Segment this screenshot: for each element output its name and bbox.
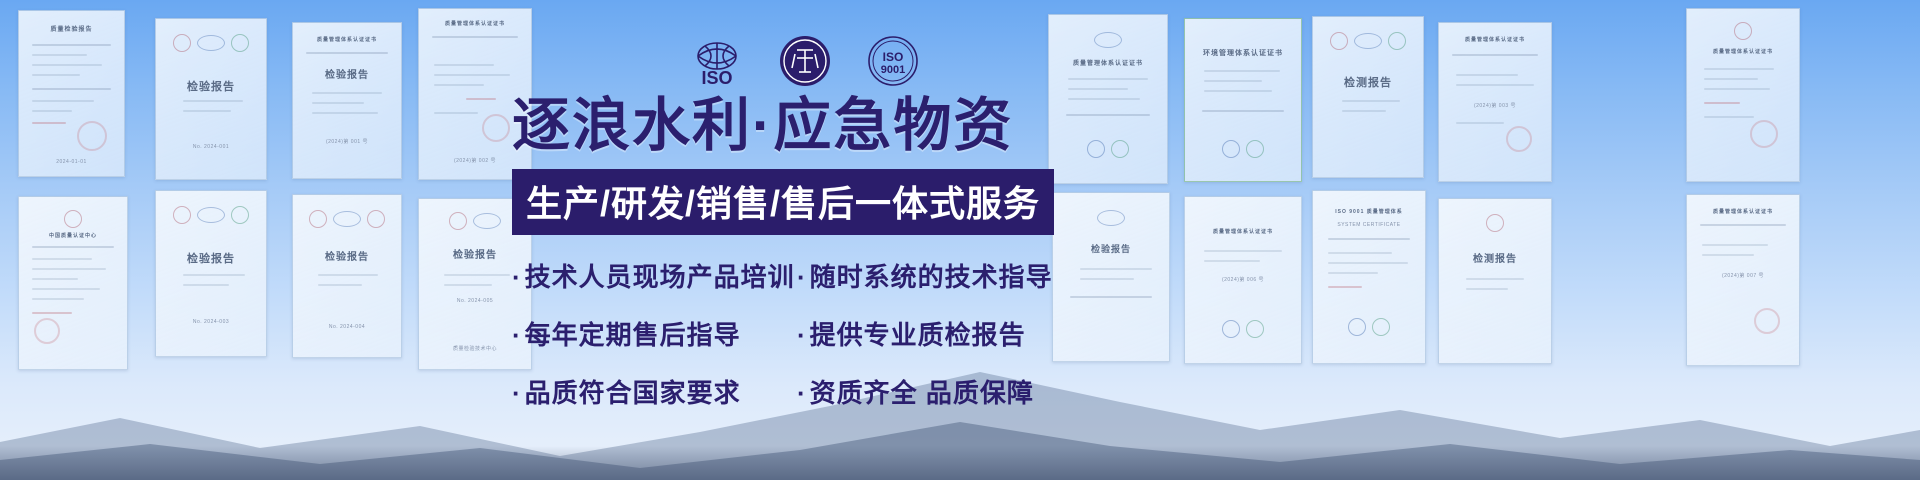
- certification-badges: ISO ISO: [690, 34, 920, 88]
- certificate-thumbnail: 检测报告: [1312, 16, 1424, 178]
- feature-item: ·品质符合国家要求: [512, 373, 797, 410]
- iso-9001-badge: ISO 9001: [866, 34, 920, 88]
- bullet-icon: ·: [797, 320, 807, 350]
- banner-content: 逐浪水利·应急物资 生产/研发/销售/售后一体式服务 ·技术人员现场产品培训 ·…: [512, 96, 1072, 410]
- feature-label: 每年定期售后指导: [525, 320, 741, 350]
- iso-badge: ISO: [690, 34, 744, 88]
- svg-text:9001: 9001: [881, 64, 905, 76]
- svg-text:ISO: ISO: [701, 68, 732, 88]
- bullet-icon: ·: [512, 378, 522, 408]
- certificate-thumbnail: 环境管理体系认证证书: [1184, 18, 1302, 182]
- feature-label: 提供专业质检报告: [810, 320, 1026, 350]
- feature-label: 资质齐全 品质保障: [810, 378, 1034, 408]
- certificate-thumbnail: 检验报告 No. 2024-001: [155, 18, 267, 180]
- feature-list: ·技术人员现场产品培训 ·随时系统的技术指导 ·每年定期售后指导 ·提供专业质检…: [512, 257, 1072, 410]
- feature-label: 随时系统的技术指导: [810, 262, 1053, 292]
- feature-item: ·资质齐全 品质保障: [797, 373, 1072, 410]
- feature-label: 技术人员现场产品培训: [525, 262, 795, 292]
- bullet-icon: ·: [797, 262, 807, 292]
- feature-item: ·技术人员现场产品培训: [512, 257, 797, 294]
- svg-text:ISO: ISO: [883, 50, 904, 64]
- certificate-thumbnail: 质量检验报告 2024-01-01: [18, 10, 125, 177]
- bullet-icon: ·: [797, 378, 807, 408]
- bullet-icon: ·: [512, 320, 522, 350]
- banner-headline: 逐浪水利·应急物资: [512, 96, 1072, 157]
- feature-item: ·每年定期售后指导: [512, 315, 797, 352]
- certificate-thumbnail: 质量管理体系认证证书 (2024)第 003 号: [1438, 22, 1552, 182]
- certificate-thumbnail: 质量管理体系认证证书: [1686, 8, 1800, 182]
- tree-line-silhouette: [0, 446, 1920, 480]
- feature-item: ·提供专业质检报告: [797, 315, 1072, 352]
- certificate-thumbnail: 质量管理体系认证证书 检验报告 (2024)第 001 号: [292, 22, 402, 179]
- promo-banner: 质量检验报告 2024-01-01 检验报告: [0, 0, 1920, 480]
- feature-item: ·随时系统的技术指导: [797, 257, 1072, 294]
- bullet-icon: ·: [512, 262, 522, 292]
- quality-inspection-badge: [778, 34, 832, 88]
- banner-subtitle-bar: 生产/研发/销售/售后一体式服务: [512, 169, 1054, 235]
- feature-label: 品质符合国家要求: [525, 378, 741, 408]
